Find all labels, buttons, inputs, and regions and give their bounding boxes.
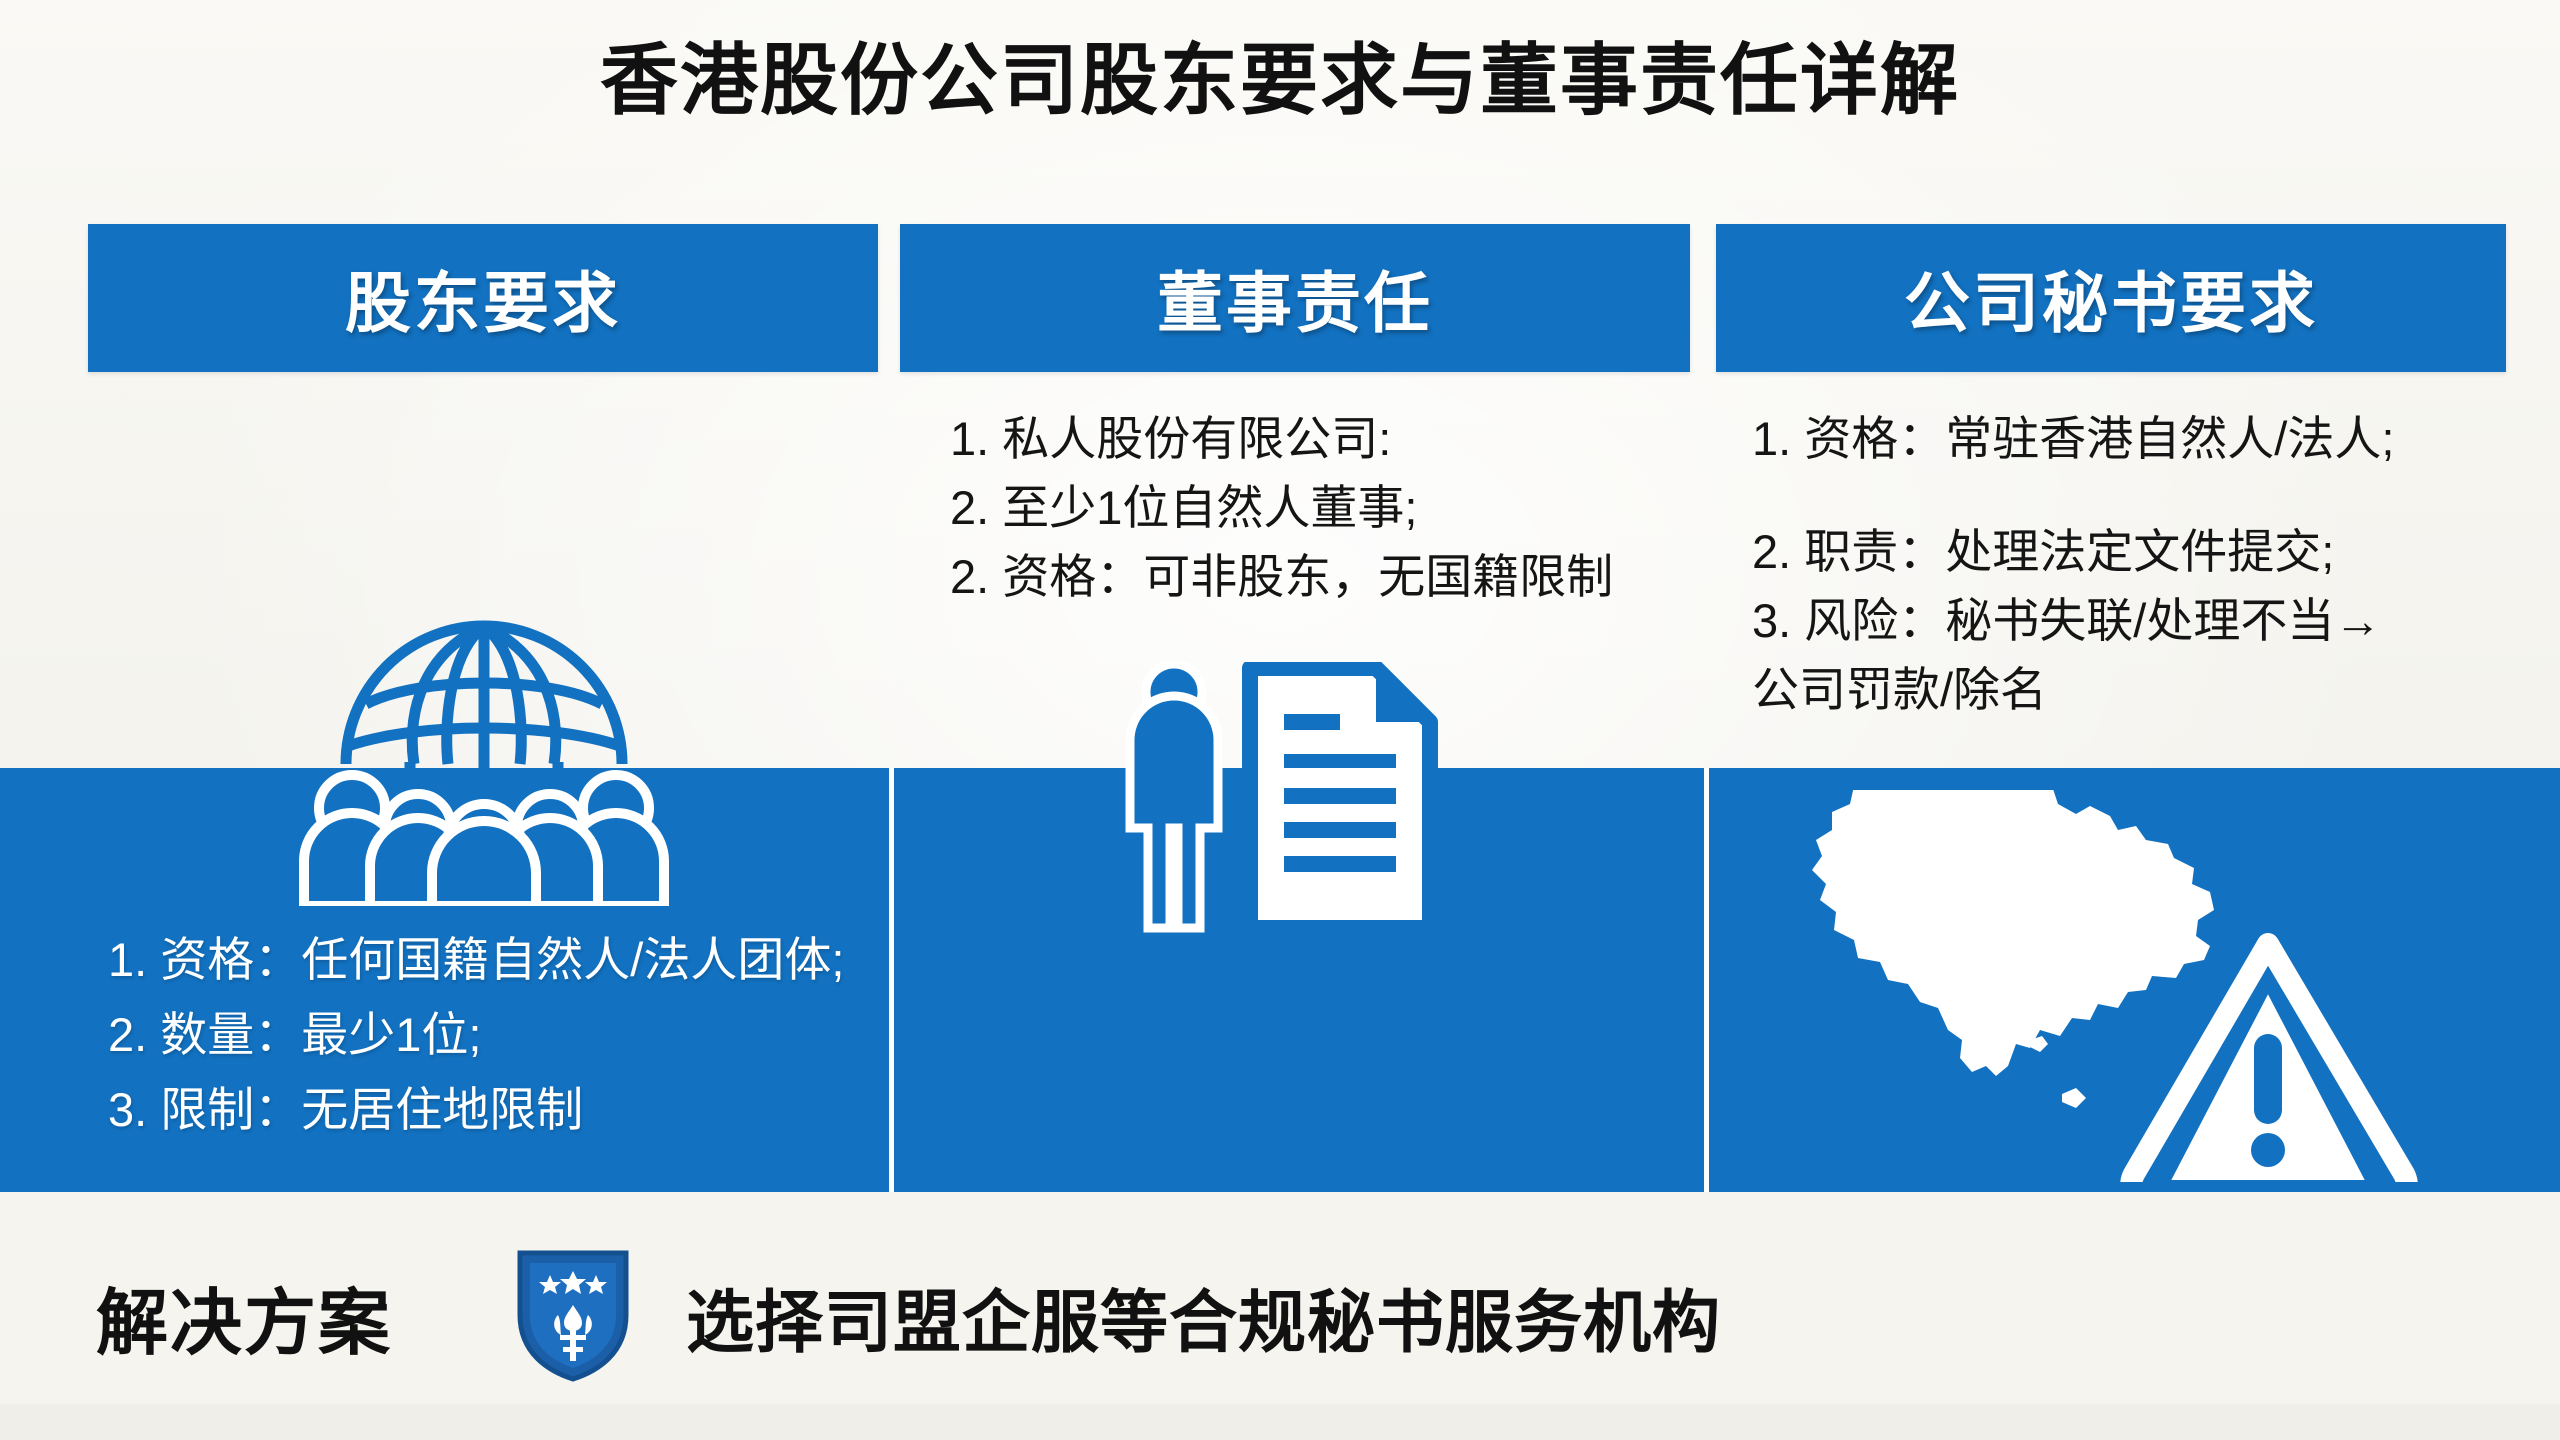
band-divider — [889, 768, 894, 1192]
body-line: 2. 数量：最少1位; — [108, 997, 844, 1072]
column-header-label: 股东要求 — [345, 250, 621, 346]
body-line: 公司罚款/除名 — [1752, 655, 2552, 724]
infographic-canvas: 香港股份公司股东要求与董事责任详解 股东要求 董事责任 公司秘书要求 1. 私人… — [0, 0, 2560, 1440]
column-header-label: 董事责任 — [1157, 250, 1433, 346]
footer-solution-text: 选择司盟企服等合规秘书服务机构 — [686, 1267, 1721, 1366]
column-body-shareholder-requirements: 1. 资格：任何国籍自然人/法人团体; 2. 数量：最少1位; 3. 限制：无居… — [108, 922, 844, 1148]
person-document-icon-overlay — [1118, 662, 1470, 934]
globe-people-icon-overlay — [288, 596, 680, 906]
column-body-company-secretary-requirements: 1. 资格：常驻香港自然人/法人; 2. 职责：处理法定文件提交; 3. 风险：… — [1752, 404, 2552, 724]
body-line: 1. 资格：任何国籍自然人/法人团体; — [108, 922, 844, 997]
page-title: 香港股份公司股东要求与董事责任详解 — [0, 36, 2560, 126]
column-header-label: 公司秘书要求 — [1904, 250, 2318, 346]
body-line: 1. 私人股份有限公司: — [950, 404, 1690, 473]
body-line: 3. 风险：秘书失联/处理不当→ — [1752, 586, 2552, 655]
column-body-director-duties: 1. 私人股份有限公司: 2. 至少1位自然人董事; 2. 资格：可非股东，无国… — [950, 404, 1690, 611]
body-line: 3. 限制：无居住地限制 — [108, 1072, 844, 1147]
shield-logo — [514, 1247, 632, 1385]
body-line: 2. 资格：可非股东，无国籍限制 — [950, 542, 1690, 611]
body-line: 2. 职责：处理法定文件提交; — [1752, 517, 2552, 586]
column-header-company-secretary-requirements: 公司秘书要求 — [1716, 224, 2506, 372]
map-warning-icon-overlay — [1790, 790, 2450, 1182]
band-divider — [1704, 768, 1709, 1192]
body-line: 1. 资格：常驻香港自然人/法人; — [1752, 404, 2552, 473]
footer-label: 解决方案 — [96, 1264, 392, 1369]
footer-solution-bar: 解决方案 — [0, 1192, 2560, 1440]
column-header-director-duties: 董事责任 — [900, 224, 1690, 372]
body-line: 2. 至少1位自然人董事; — [950, 473, 1690, 542]
column-header-shareholder-requirements: 股东要求 — [88, 224, 878, 372]
bottom-strip — [0, 1404, 2560, 1440]
